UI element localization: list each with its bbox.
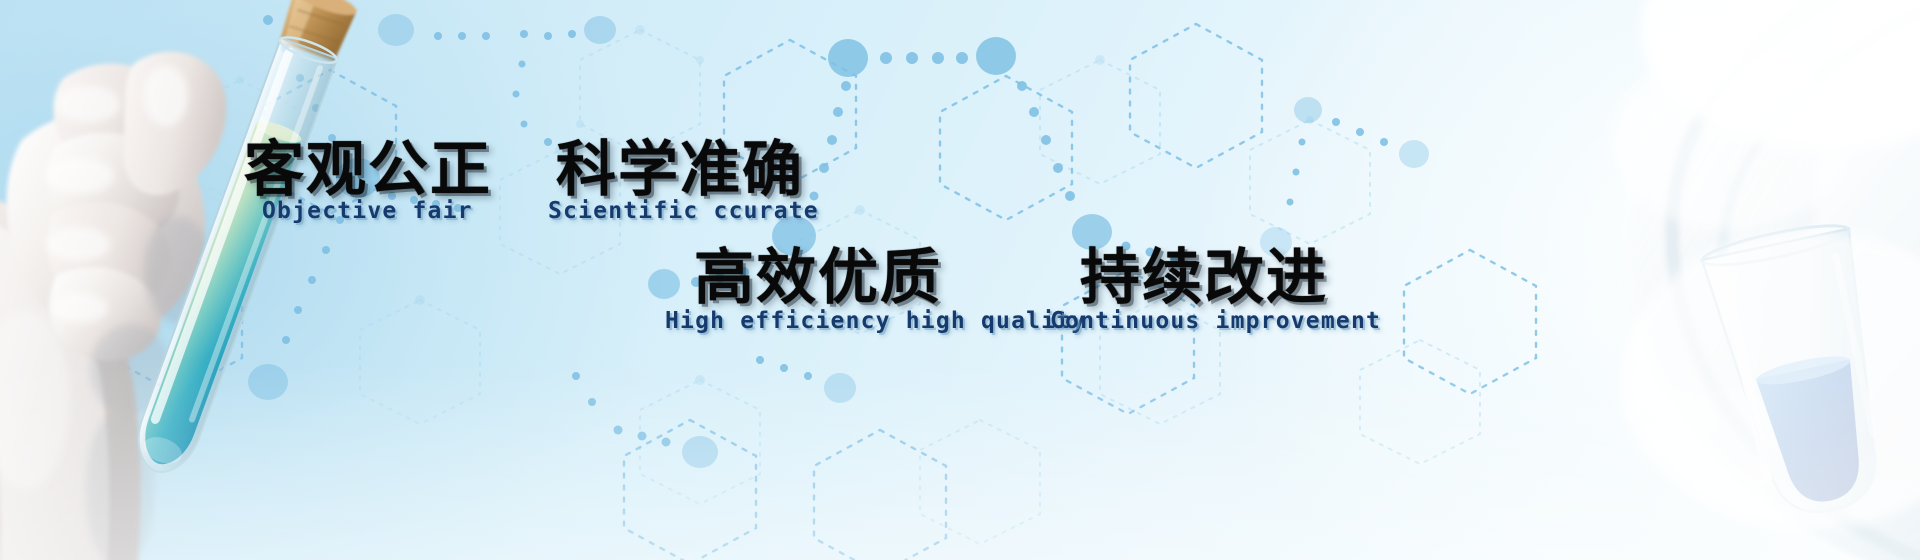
background-wash-right — [1200, 0, 1920, 560]
background-wash-bottom — [0, 360, 1920, 560]
molecule-pattern-far — [0, 0, 1920, 560]
slogan-heading-high-efficiency: 高效优质 — [694, 248, 942, 308]
lab-coat-and-beaker-image — [1310, 0, 1920, 560]
slogan-subtitle-high-efficiency: High efficiency high quality — [665, 310, 1086, 333]
test-tube-image — [90, 0, 390, 498]
slogan-subtitle-continuous-improvement: Continuous improvement — [1050, 310, 1381, 333]
molecule-pattern-main — [0, 0, 1920, 560]
gloved-hand-image — [0, 0, 380, 560]
slogan-subtitle-objective-fair: Objective fair — [262, 200, 473, 223]
slogan-heading-scientific-accurate: 科学准确 — [556, 140, 804, 200]
slogan-copy-block: 客观公正 科学准确 Objective fair Scientific ccur… — [0, 0, 1920, 560]
slogan-heading-continuous-improvement: 持续改进 — [1080, 248, 1328, 308]
lab-services-hero-banner: 客观公正 科学准确 Objective fair Scientific ccur… — [0, 0, 1920, 560]
slogan-heading-objective-fair: 客观公正 — [244, 140, 492, 200]
background-wash-left — [0, 0, 660, 560]
slogan-subtitle-scientific-accurate: Scientific ccurate — [548, 200, 819, 223]
